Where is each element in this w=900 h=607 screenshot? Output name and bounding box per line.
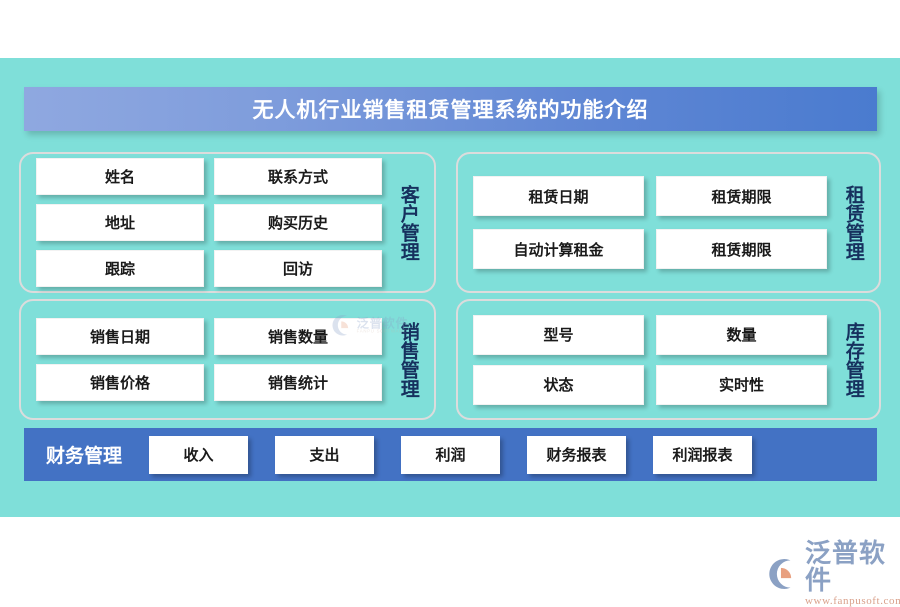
panel-inventory-management: 型号 数量 状态 实时性 库存管理 bbox=[456, 299, 881, 420]
feature-card[interactable]: 租赁日期 bbox=[473, 176, 644, 216]
feature-card[interactable]: 地址 bbox=[36, 204, 204, 241]
finance-button-profit[interactable]: 利润 bbox=[401, 436, 500, 474]
feature-card[interactable]: 回访 bbox=[214, 250, 382, 287]
feature-card[interactable]: 购买历史 bbox=[214, 204, 382, 241]
panel-inventory-items: 型号 数量 状态 实时性 bbox=[458, 306, 833, 414]
feature-card[interactable]: 联系方式 bbox=[214, 158, 382, 195]
feature-card[interactable]: 销售数量 bbox=[214, 318, 382, 355]
feature-card[interactable]: 租赁期限 bbox=[656, 176, 827, 216]
panel-rental-management: 租赁日期 租赁期限 自动计算租金 租赁期限 租赁管理 bbox=[456, 152, 881, 293]
fanpu-logo-icon bbox=[766, 557, 800, 591]
finance-button-income[interactable]: 收入 bbox=[149, 436, 248, 474]
feature-card[interactable]: 姓名 bbox=[36, 158, 204, 195]
finance-button-expense[interactable]: 支出 bbox=[275, 436, 374, 474]
feature-card[interactable]: 销售统计 bbox=[214, 364, 382, 401]
page-title: 无人机行业销售租赁管理系统的功能介绍 bbox=[253, 94, 649, 124]
module-panel-grid: 姓名 联系方式 地址 购买历史 跟踪 回访 客户管理 租赁日期 租赁期限 自动计… bbox=[19, 152, 881, 420]
panel-sales-management: 销售日期 销售数量 销售价格 销售统计 销售管理 bbox=[19, 299, 436, 420]
panel-rental-items: 租赁日期 租赁期限 自动计算租金 租赁期限 bbox=[458, 166, 833, 279]
brand-text: 泛普软件 www.fanpusoft.com bbox=[805, 540, 900, 607]
feature-card[interactable]: 实时性 bbox=[656, 365, 827, 405]
panel-label-customer-management: 客户管理 bbox=[388, 154, 434, 291]
feature-card[interactable]: 租赁期限 bbox=[656, 229, 827, 269]
brand-logo: 泛普软件 www.fanpusoft.com bbox=[766, 540, 900, 607]
diagram-title-banner: 无人机行业销售租赁管理系统的功能介绍 bbox=[24, 87, 877, 131]
feature-card[interactable]: 数量 bbox=[656, 315, 827, 355]
panel-customer-management: 姓名 联系方式 地址 购买历史 跟踪 回访 客户管理 bbox=[19, 152, 436, 293]
panel-label-rental-management: 租赁管理 bbox=[833, 154, 879, 291]
diagram-stage: 无人机行业销售租赁管理系统的功能介绍 姓名 联系方式 地址 购买历史 跟踪 回访… bbox=[0, 58, 900, 517]
feature-card[interactable]: 跟踪 bbox=[36, 250, 204, 287]
feature-card[interactable]: 型号 bbox=[473, 315, 644, 355]
finance-button-profit-report[interactable]: 利润报表 bbox=[653, 436, 752, 474]
finance-bar-label: 财务管理 bbox=[46, 441, 122, 468]
brand-name: 泛普软件 bbox=[805, 540, 900, 595]
feature-card[interactable]: 销售价格 bbox=[36, 364, 204, 401]
feature-card[interactable]: 自动计算租金 bbox=[473, 229, 644, 269]
brand-url: www.fanpusoft.com bbox=[805, 596, 900, 607]
panel-label-inventory-management: 库存管理 bbox=[833, 301, 879, 418]
finance-button-financial-report[interactable]: 财务报表 bbox=[527, 436, 626, 474]
feature-card[interactable]: 销售日期 bbox=[36, 318, 204, 355]
panel-sales-items: 销售日期 销售数量 销售价格 销售统计 bbox=[21, 309, 388, 410]
feature-card[interactable]: 状态 bbox=[473, 365, 644, 405]
panel-customer-items: 姓名 联系方式 地址 购买历史 跟踪 回访 bbox=[21, 148, 388, 297]
finance-management-bar: 财务管理 收入 支出 利润 财务报表 利润报表 bbox=[24, 428, 877, 481]
panel-label-sales-management: 销售管理 bbox=[388, 301, 434, 418]
